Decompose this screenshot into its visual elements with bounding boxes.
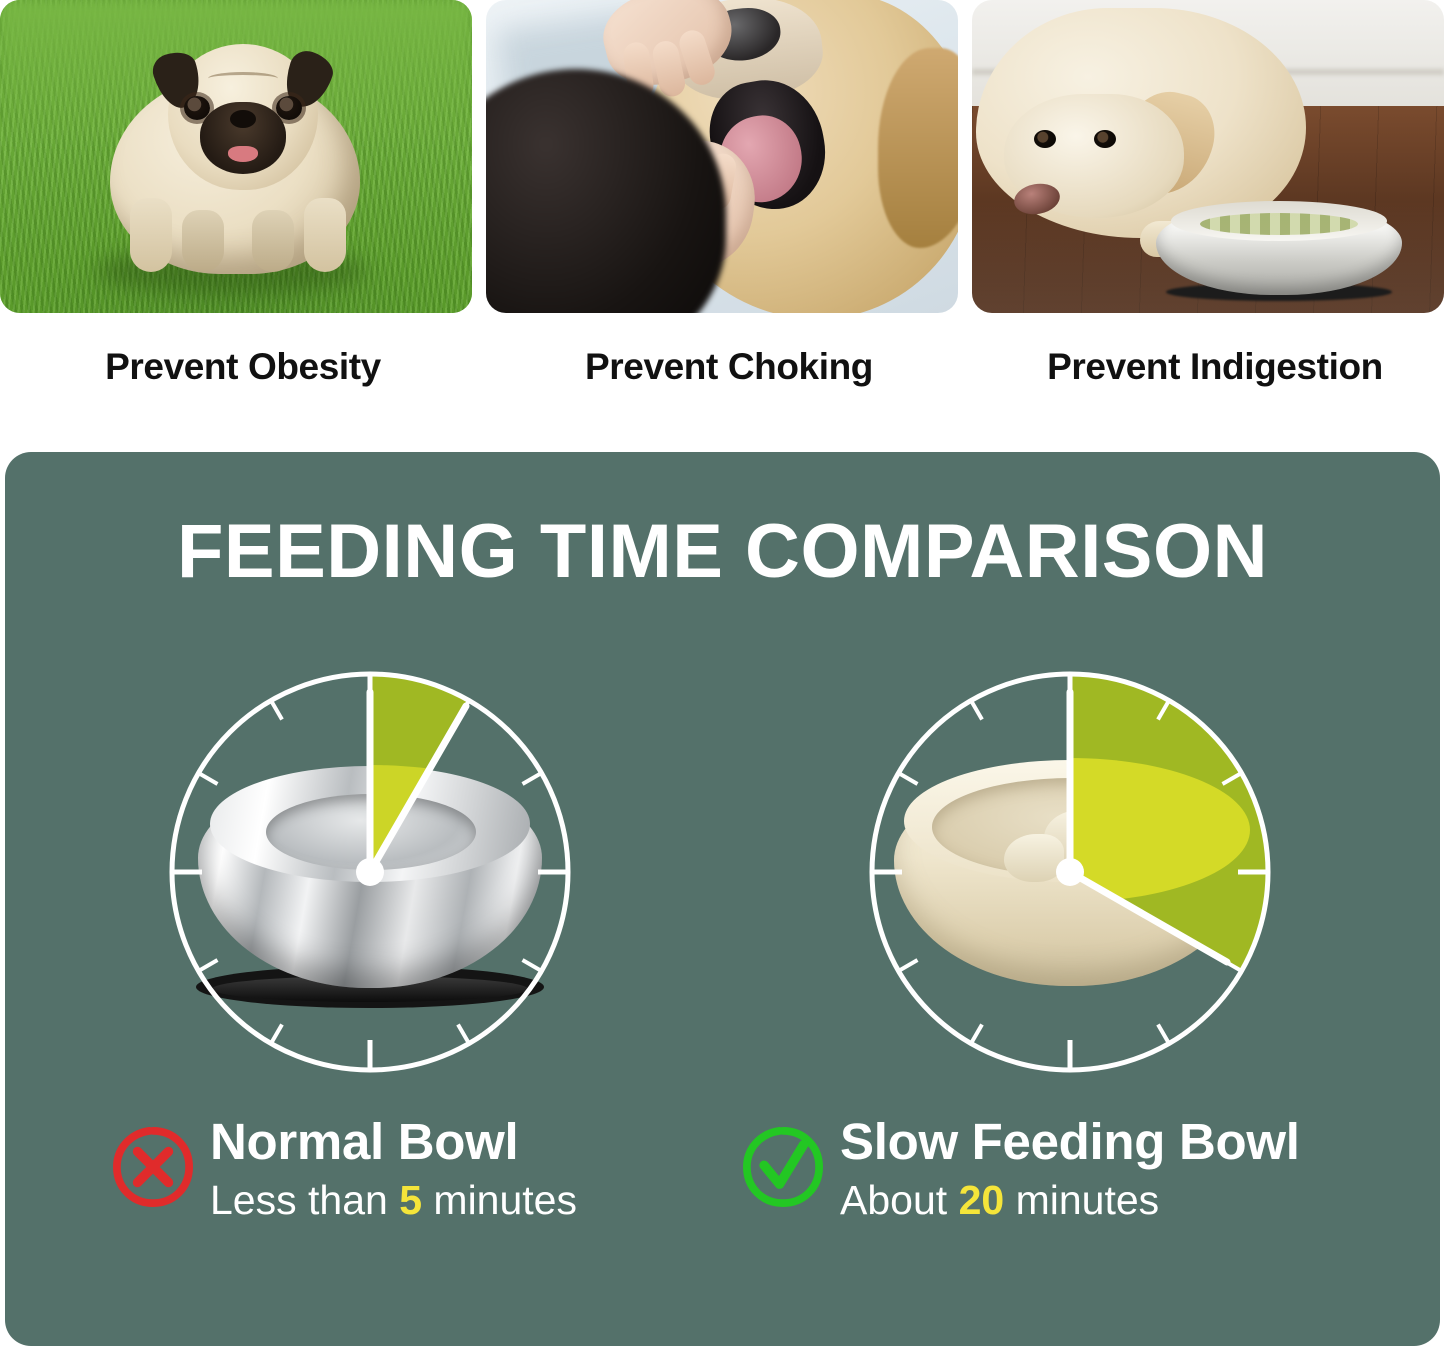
pug-photo: [0, 0, 472, 313]
feature-photo-strip: [0, 0, 1445, 318]
dial-normal-bowl: [160, 652, 580, 1082]
indigestion-photo: [972, 0, 1444, 313]
photo-captions: Prevent Obesity Prevent Choking Prevent …: [0, 332, 1445, 402]
retriever-ear: [878, 48, 958, 248]
comparison-legend: Normal Bowl Less than 5 minutes Slow Fee…: [5, 1112, 1440, 1262]
legend-normal-bowl: Normal Bowl Less than 5 minutes: [110, 1112, 577, 1226]
pug-leg: [182, 210, 224, 272]
labrador-eye: [1034, 130, 1056, 148]
pug-leg: [304, 198, 346, 272]
caption-prevent-obesity: Prevent Obesity: [0, 332, 486, 402]
pug-wrinkle: [208, 72, 278, 85]
photo-card-prevent-indigestion: [972, 0, 1444, 313]
pug-muzzle: [200, 102, 286, 174]
legend-slow-feeding-bowl: Slow Feeding Bowl About 20 minutes: [740, 1112, 1300, 1226]
bowl-food: [1200, 213, 1357, 235]
photo-card-prevent-choking: [486, 0, 958, 313]
legend-sub-prefix: About: [840, 1177, 947, 1223]
pug-leg: [130, 198, 172, 272]
choking-photo: [486, 0, 958, 313]
dial-center-hub: [356, 858, 384, 886]
legend-title-slow-feeding-bowl: Slow Feeding Bowl: [840, 1112, 1300, 1172]
dial-overlay-normal: [160, 652, 580, 1082]
dial-center-hub: [1056, 858, 1084, 886]
pug-eye: [276, 96, 302, 120]
labrador-eye: [1094, 130, 1116, 148]
legend-text-normal: Normal Bowl Less than 5 minutes: [210, 1112, 577, 1226]
legend-sub-normal-bowl: Less than 5 minutes: [210, 1174, 577, 1226]
legend-sub-value: 5: [399, 1177, 422, 1223]
steel-food-bowl: [1156, 203, 1402, 295]
pug-tongue: [228, 146, 258, 162]
legend-sub-suffix: minutes: [1016, 1177, 1160, 1223]
legend-title-normal-bowl: Normal Bowl: [210, 1112, 577, 1172]
pug-head: [168, 44, 318, 190]
clock-dials: [5, 652, 1440, 1092]
pug-dog: [92, 28, 372, 288]
check-circle-icon: [740, 1124, 826, 1210]
x-circle-icon: [110, 1124, 196, 1210]
pug-leg: [252, 210, 294, 272]
legend-sub-value: 20: [959, 1177, 1005, 1223]
page-title: FEEDING TIME COMPARISON: [5, 508, 1440, 595]
legend-text-slow: Slow Feeding Bowl About 20 minutes: [840, 1112, 1300, 1226]
pug-nose: [230, 110, 256, 128]
photo-card-prevent-obesity: [0, 0, 472, 313]
dial-slow-feeding-bowl: [860, 652, 1280, 1082]
legend-sub-slow-feeding-bowl: About 20 minutes: [840, 1174, 1300, 1226]
caption-prevent-choking: Prevent Choking: [486, 332, 972, 402]
caption-prevent-indigestion: Prevent Indigestion: [972, 332, 1445, 402]
dial-overlay-slow: [860, 652, 1280, 1082]
legend-sub-suffix: minutes: [433, 1177, 577, 1223]
legend-sub-prefix: Less than: [210, 1177, 388, 1223]
feeding-time-comparison-panel: FEEDING TIME COMPARISON: [5, 452, 1440, 1346]
